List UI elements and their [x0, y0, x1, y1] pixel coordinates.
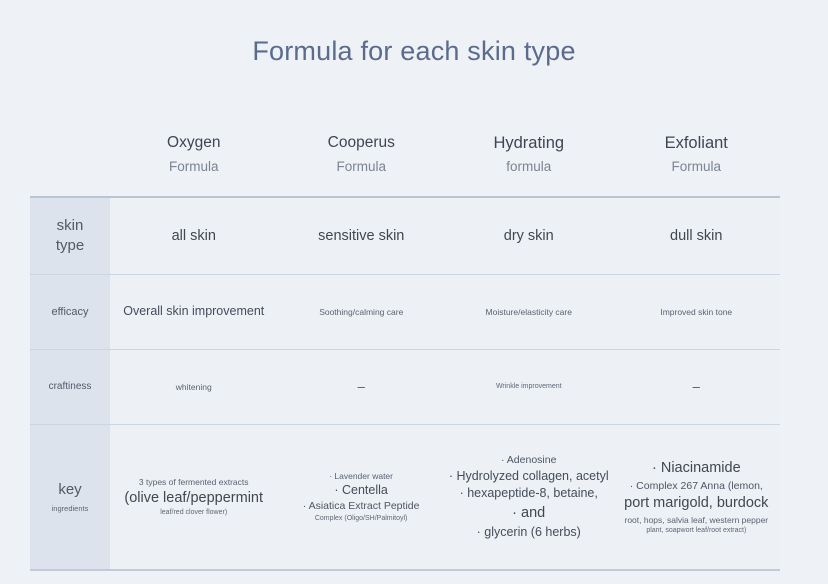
cell-skin-type-exfoliant: dull skin: [613, 198, 781, 274]
table-row-craftiness: craftiness whitening – Wrinkle improveme…: [30, 350, 780, 425]
column-header-oxygen: Oxygen Formula: [110, 118, 278, 196]
cell-key-ingredients-exfoliant: · Niacinamide · Complex 267 Anna (lemon,…: [613, 425, 780, 569]
cell-efficacy-oxygen: Overall skin improvement: [110, 275, 278, 349]
cell-line: (olive leaf/peppermint: [124, 488, 263, 509]
cell-efficacy-cooperus: Soothing/calming care: [278, 275, 446, 349]
row-label-key-ingredients: key ingredients: [30, 425, 110, 569]
cell-line: dry skin: [504, 226, 554, 247]
row-label-text: key: [58, 480, 81, 500]
cell-line: leaf/red clover flower): [160, 508, 227, 518]
column-subtitle: Formula: [278, 156, 446, 178]
cell-skin-type-oxygen: all skin: [110, 198, 278, 274]
cell-line: · Hydrolyzed collagen, acetyl: [449, 468, 609, 486]
row-cells: Overall skin improvement Soothing/calmin…: [110, 275, 780, 349]
cell-craftiness-cooperus: –: [278, 350, 446, 424]
table-body: skin type all skin sensitive skin dry sk…: [30, 196, 780, 571]
column-header-hydrating: Hydrating formula: [445, 118, 613, 196]
cell-skin-type-cooperus: sensitive skin: [278, 198, 446, 274]
cell-line: · Lavender water: [329, 470, 393, 482]
cell-line: –: [693, 378, 700, 396]
row-label-text: craftiness: [49, 380, 92, 394]
cell-line: · Complex 267 Anna (lemon,: [630, 479, 763, 494]
column-subtitle: Formula: [110, 156, 278, 178]
cell-key-ingredients-cooperus: · Lavender water · Centella · Asiatica E…: [277, 425, 444, 569]
row-label-spacer: [30, 118, 110, 196]
cell-craftiness-exfoliant: –: [613, 350, 781, 424]
row-label-skin-type: skin type: [30, 198, 110, 274]
table-row-skin-type: skin type all skin sensitive skin dry sk…: [30, 198, 780, 275]
cell-line: port marigold, burdock: [624, 493, 768, 514]
row-cells: whitening – Wrinkle improvement –: [110, 350, 780, 424]
cell-line: dull skin: [670, 226, 722, 247]
column-name: Oxygen: [110, 132, 278, 154]
cell-efficacy-exfoliant: Improved skin tone: [613, 275, 781, 349]
column-header-cooperus: Cooperus Formula: [278, 118, 446, 196]
cell-line: whitening: [176, 381, 212, 393]
row-label-craftiness: craftiness: [30, 350, 110, 424]
row-label-text: efficacy: [51, 305, 88, 320]
row-cells: 3 types of fermented extracts (olive lea…: [110, 425, 780, 569]
cell-craftiness-oxygen: whitening: [110, 350, 278, 424]
row-label-text-line2: type: [56, 236, 84, 256]
cell-line: 3 types of fermented extracts: [139, 476, 249, 488]
cell-line: Soothing/calming care: [319, 306, 403, 318]
cell-line: · Asiatica Extract Peptide: [303, 499, 420, 514]
formula-table: Oxygen Formula Cooperus Formula Hydratin…: [30, 118, 780, 571]
cell-key-ingredients-oxygen: 3 types of fermented extracts (olive lea…: [110, 425, 277, 569]
cell-line: Complex (Oligo/SH/Palmitoyl): [315, 514, 408, 524]
cell-line: –: [358, 378, 365, 396]
column-name: Hydrating: [445, 132, 613, 154]
column-name: Cooperus: [278, 132, 446, 154]
cell-key-ingredients-hydrating: · Adenosine · Hydrolyzed collagen, acety…: [445, 425, 613, 569]
cell-line: · hexapeptide-8, betaine,: [460, 485, 598, 503]
cell-line: Improved skin tone: [660, 306, 732, 318]
cell-line: Overall skin improvement: [123, 303, 264, 321]
table-column-headers: Oxygen Formula Cooperus Formula Hydratin…: [30, 118, 780, 196]
cell-skin-type-hydrating: dry skin: [445, 198, 613, 274]
cell-line: Wrinkle improvement: [496, 382, 562, 392]
row-label-efficacy: efficacy: [30, 275, 110, 349]
table-row-key-ingredients: key ingredients 3 types of fermented ext…: [30, 425, 780, 569]
table-row-efficacy: efficacy Overall skin improvement Soothi…: [30, 275, 780, 350]
row-label-text: skin: [57, 216, 84, 236]
formula-table-page: Formula for each skin type Oxygen Formul…: [0, 0, 828, 584]
column-subtitle: formula: [445, 156, 613, 178]
cell-line: · Centella: [334, 482, 388, 500]
cell-line: · and: [512, 503, 545, 524]
row-label-text-line2: ingredients: [52, 504, 89, 514]
cell-line: · Niacinamide: [652, 458, 741, 479]
cell-line: sensitive skin: [318, 226, 404, 247]
cell-line: root, hops, salvia leaf, western pepper: [624, 514, 768, 526]
cell-efficacy-hydrating: Moisture/elasticity care: [445, 275, 613, 349]
page-title: Formula for each skin type: [0, 36, 828, 67]
column-subtitle: Formula: [613, 156, 781, 178]
cell-line: Moisture/elasticity care: [486, 306, 572, 318]
cell-line: · Adenosine: [501, 453, 556, 468]
column-header-exfoliant: Exfoliant Formula: [613, 118, 781, 196]
cell-line: · glycerin (6 herbs): [477, 524, 581, 542]
cell-line: plant, soapwort leaf/root extract): [646, 526, 746, 536]
column-name: Exfoliant: [613, 132, 781, 154]
cell-line: all skin: [172, 226, 216, 247]
cell-craftiness-hydrating: Wrinkle improvement: [445, 350, 613, 424]
row-cells: all skin sensitive skin dry skin dull sk…: [110, 198, 780, 274]
